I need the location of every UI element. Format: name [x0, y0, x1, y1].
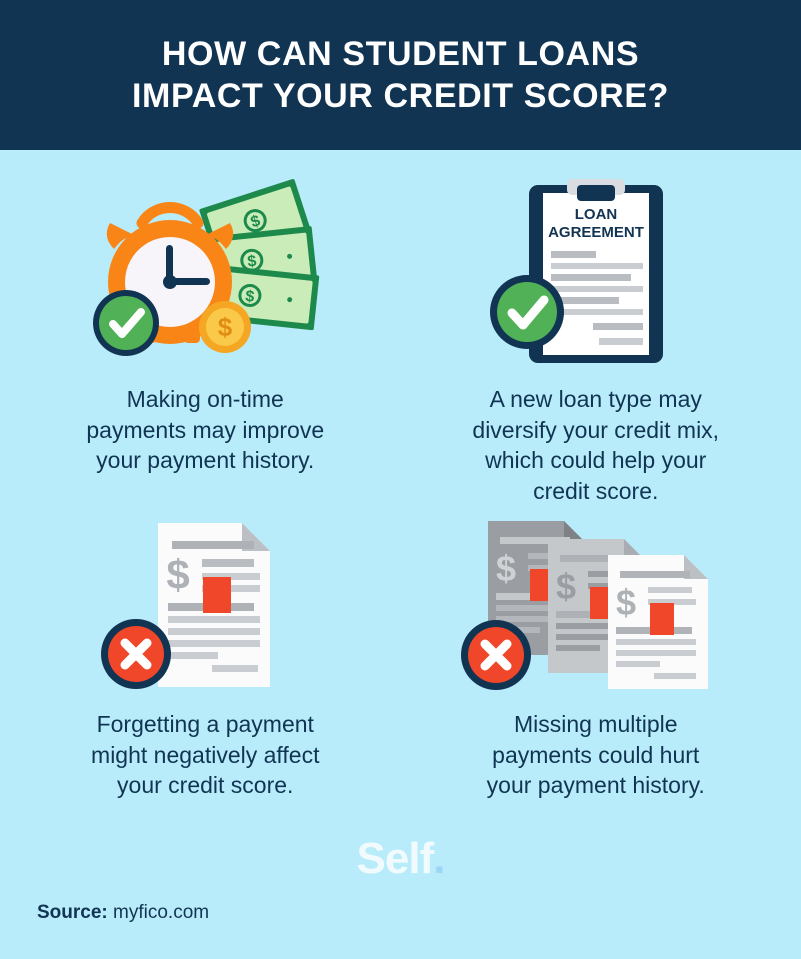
self-logo-watermark: Self.	[0, 834, 801, 884]
alarm-clock-money-icon: $ $ $	[80, 172, 330, 372]
source-label: Source:	[37, 902, 108, 923]
footer: Self. Source: myfico.com	[0, 828, 801, 959]
source-attribution: Source: myfico.com	[37, 902, 209, 924]
svg-text:$: $	[496, 548, 516, 589]
card-caption: Making on-time payments may improve your…	[60, 372, 350, 476]
gold-coin-icon: $	[199, 301, 251, 353]
svg-text:$: $	[167, 551, 190, 598]
document-title-line1: LOAN	[575, 206, 618, 223]
card-credit-mix: LOAN AGREEMENT A ne	[401, 172, 792, 512]
self-logo-text: Self	[357, 834, 434, 883]
red-x-icon	[461, 620, 531, 690]
header-banner: HOW CAN STUDENT LOANS IMPACT YOUR CREDIT…	[0, 0, 801, 150]
card-caption: Missing multiple payments could hurt you…	[461, 697, 731, 801]
green-check-icon	[490, 275, 564, 349]
card-missed-payments: $ $	[401, 512, 792, 832]
self-logo-dot: .	[433, 834, 444, 883]
card-caption: Forgetting a payment might negatively af…	[65, 697, 345, 801]
overdue-stamp	[650, 603, 674, 635]
stacked-overdue-invoices-icon: $ $	[456, 512, 736, 697]
card-forgotten-payment: $	[10, 512, 401, 832]
source-value: myfico.com	[108, 902, 209, 923]
svg-text:$: $	[616, 582, 636, 623]
svg-text:$: $	[245, 288, 256, 306]
invoice-document-icon: $	[158, 523, 270, 687]
red-x-icon	[101, 619, 171, 689]
loan-agreement-clipboard-icon: LOAN AGREEMENT	[471, 172, 721, 372]
svg-text:$: $	[247, 253, 258, 271]
card-caption: A new loan type may diversify your credi…	[446, 372, 745, 506]
document-title-line2: AGREEMENT	[548, 224, 644, 241]
svg-text:$: $	[218, 312, 233, 342]
benefits-grid: $ $ $	[0, 150, 801, 832]
invoice-document-front: $	[608, 555, 708, 689]
green-check-icon	[93, 290, 159, 356]
card-on-time-payments: $ $ $	[10, 172, 401, 512]
single-overdue-invoice-icon: $	[90, 512, 320, 697]
overdue-stamp	[203, 577, 231, 613]
svg-text:$: $	[556, 566, 576, 607]
page-title: HOW CAN STUDENT LOANS IMPACT YOUR CREDIT…	[132, 33, 669, 118]
